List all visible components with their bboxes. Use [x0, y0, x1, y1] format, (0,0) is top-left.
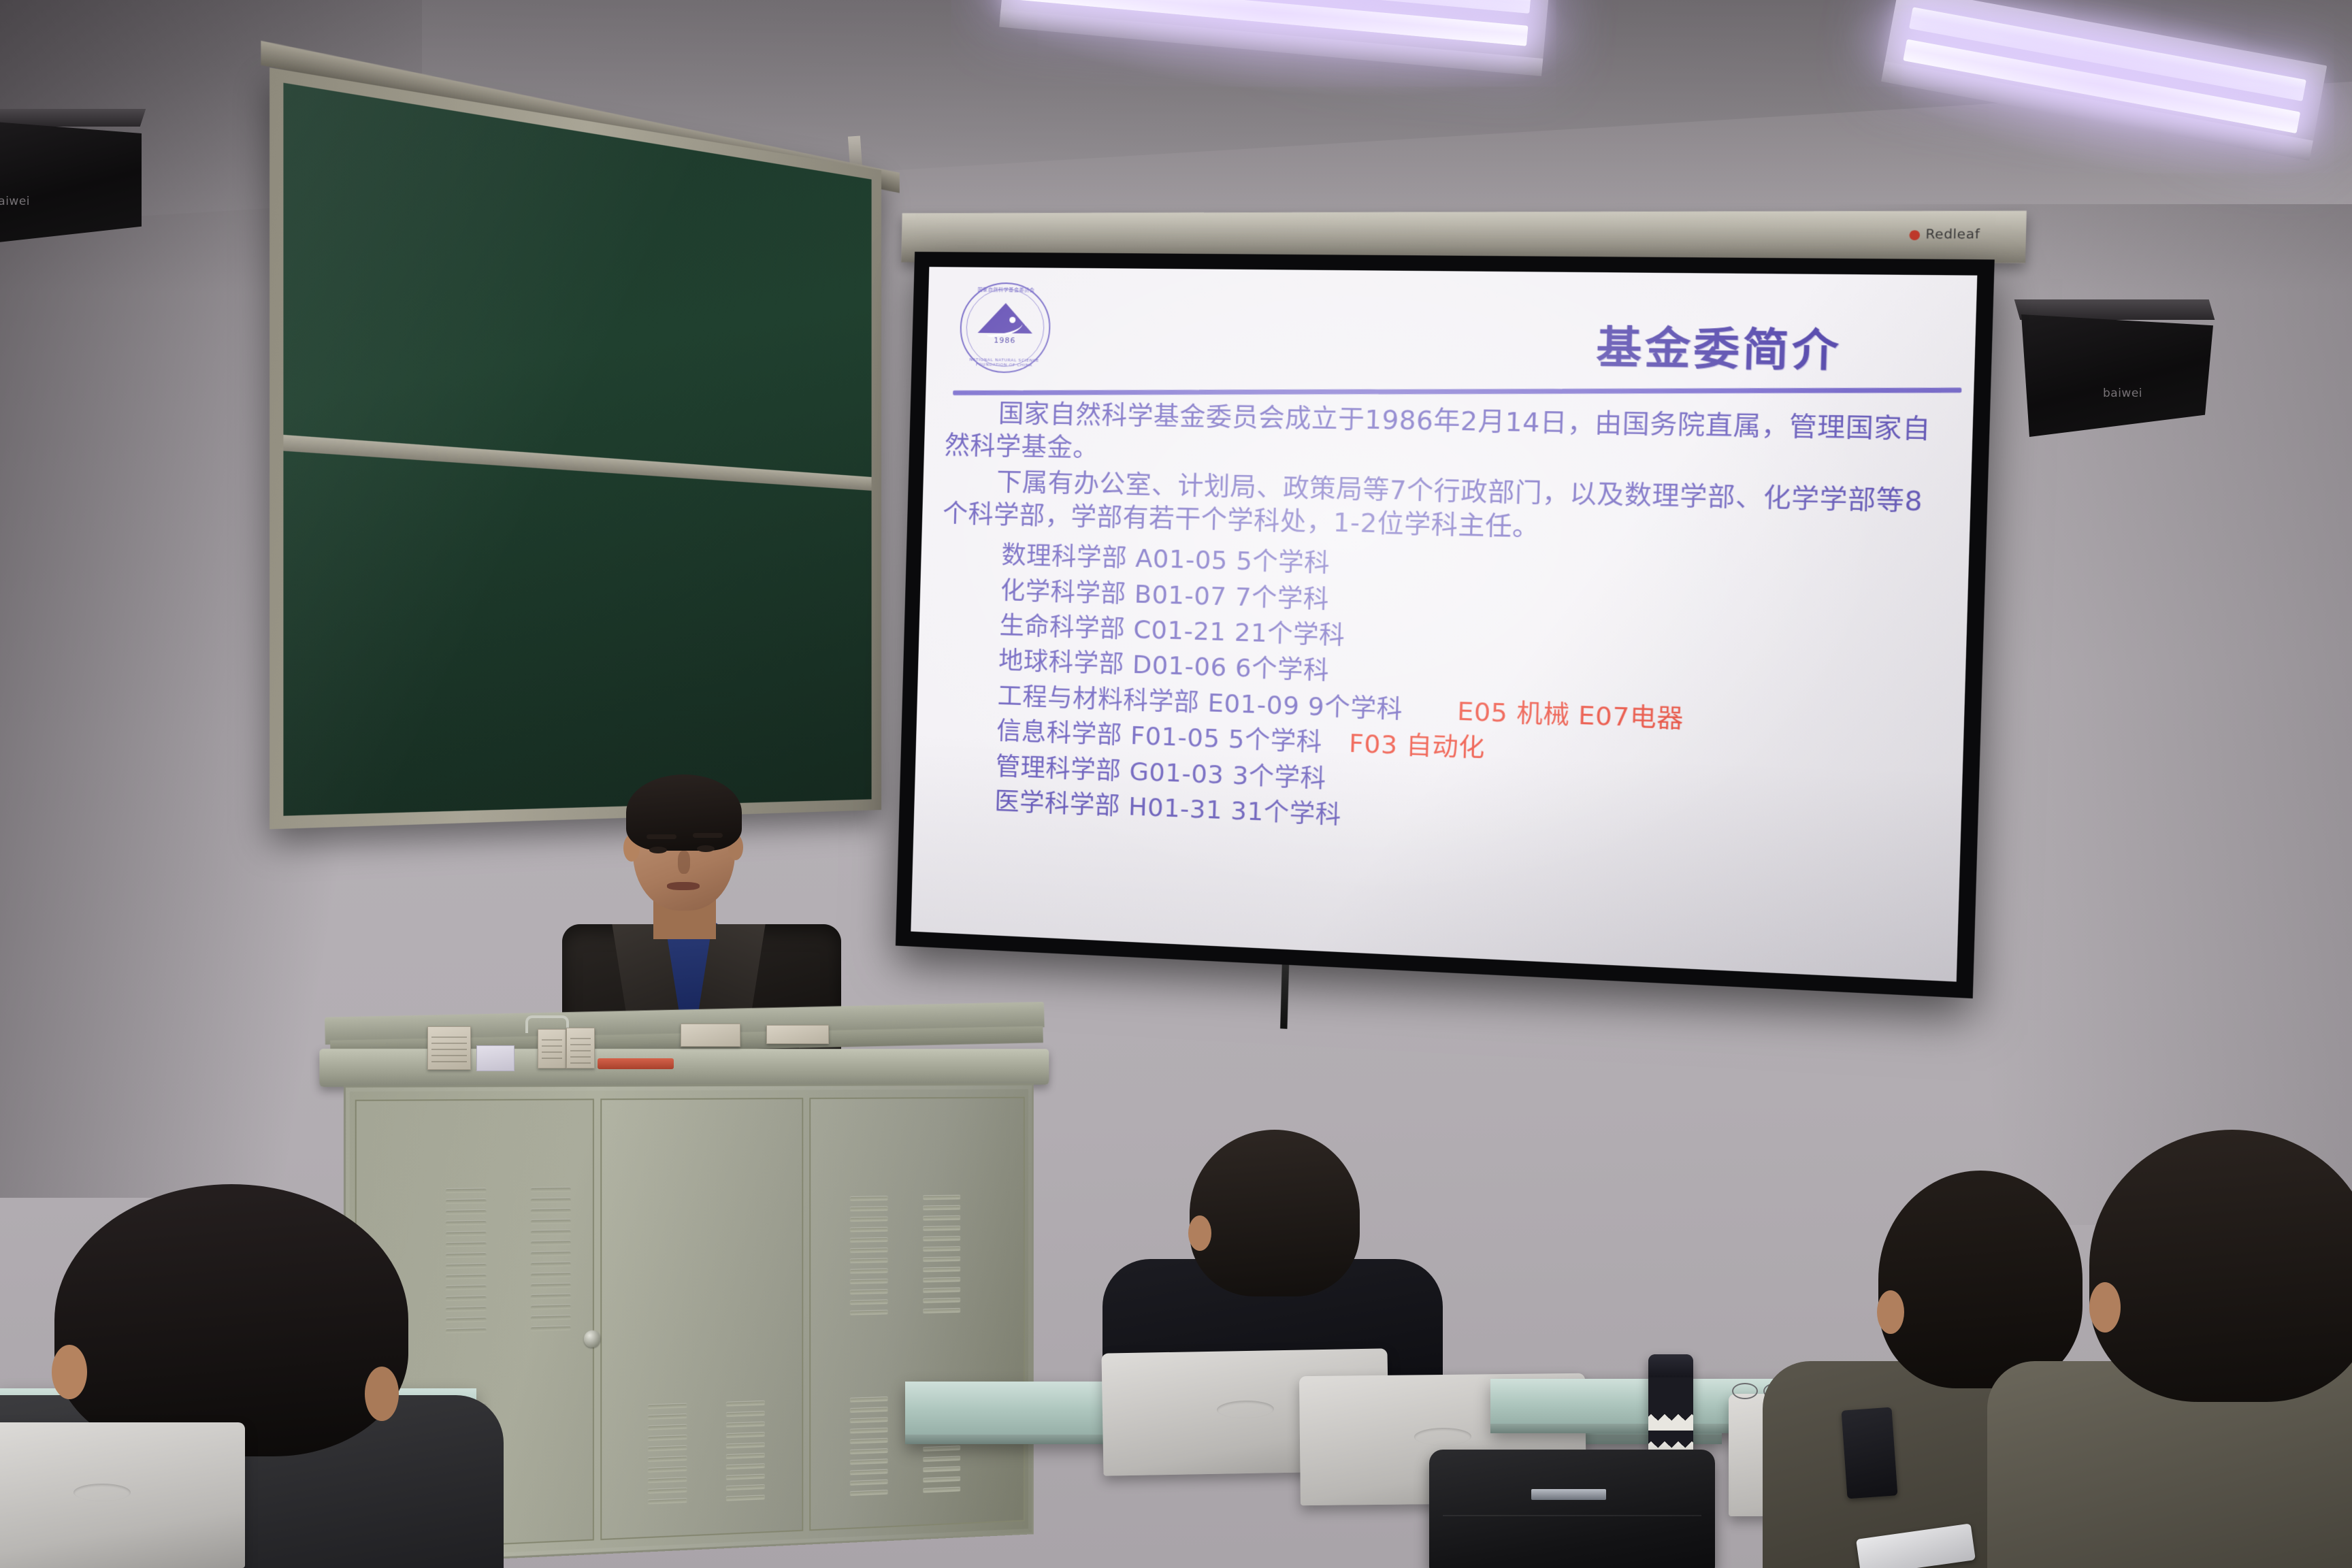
screen-brand-label: ● Redleaf: [1908, 227, 1980, 242]
podium-vent-slots: [923, 1195, 960, 1320]
podium-vent-slots: [531, 1187, 571, 1337]
blackboard-frame: [269, 67, 881, 829]
nsfc-logo-icon: 国家自然科学基金委员会 1986 NATIONAL NATURAL SCIENC…: [959, 282, 1051, 374]
department-code: D01-06: [1132, 651, 1227, 683]
department-annotation: F03 自动化: [1349, 730, 1486, 763]
podium-vent-slots: [850, 1396, 888, 1502]
red-chalk-stick[interactable]: [598, 1058, 674, 1069]
classroom-scene: baiwei baiwei ● Redleaf: [0, 0, 2352, 1568]
department-code: C01-21: [1133, 616, 1226, 647]
podium-vent-slots: [648, 1403, 687, 1511]
department-name: 医学科学部: [994, 787, 1121, 821]
projection-screen: ● Redleaf 国家自然科学基金委员会 1986 NATIONAL NATU…: [896, 252, 1995, 998]
department-count: 3个学科: [1232, 762, 1326, 794]
chalk-box[interactable]: [538, 1029, 566, 1068]
department-code: F01-05: [1130, 722, 1220, 753]
presenter-mouth: [667, 882, 700, 890]
department-name: 管理科学部: [995, 753, 1122, 785]
slide-title-rule: [953, 388, 1961, 395]
department-count: 21个学科: [1234, 619, 1345, 651]
department-name: 地球科学部: [998, 647, 1125, 679]
chalk-tray-item[interactable]: [766, 1025, 829, 1044]
slide-header: 国家自然科学基金委员会 1986 NATIONAL NATURAL SCIENC…: [946, 278, 1957, 408]
slide-title: 基金委简介: [1595, 312, 1842, 379]
department-name: 工程与材料科学部: [997, 682, 1200, 717]
screen-projection-surface: 国家自然科学基金委员会 1986 NATIONAL NATURAL SCIENC…: [911, 267, 1977, 981]
department-count: 6个学科: [1235, 654, 1329, 685]
presenter-brow-right: [693, 833, 723, 838]
department-count: 9个学科: [1307, 692, 1403, 724]
chalk-eraser[interactable]: [476, 1045, 514, 1071]
podium-door-center[interactable]: [600, 1098, 803, 1540]
mobile-phone-held[interactable]: [1842, 1407, 1898, 1499]
department-name: 信息科学部: [996, 717, 1123, 750]
presenter-eye-right: [697, 845, 715, 852]
wall-speaker-left: baiwei: [0, 109, 143, 252]
presenter-brow-left: [647, 834, 676, 839]
audience-front-left-hair: [54, 1184, 408, 1456]
department-name: 数理科学部: [1001, 542, 1128, 573]
wall-speaker-right: baiwei: [2001, 299, 2219, 449]
podium-vent-slots: [850, 1196, 888, 1321]
blackboard: [269, 67, 881, 829]
podium-vent-slots: [726, 1401, 765, 1507]
audience-front-left-ear-right: [365, 1367, 399, 1421]
department-code: E01-09: [1207, 689, 1300, 721]
chalk-box[interactable]: [427, 1026, 471, 1070]
podium-door-right[interactable]: [809, 1097, 1024, 1531]
bag-seam: [1443, 1515, 1701, 1516]
logo-year-text: 1986: [960, 336, 1050, 346]
audience-center-hair: [1190, 1130, 1360, 1296]
department-code: H01-31: [1128, 793, 1223, 825]
department-annotation: E05 机械 E07电器: [1457, 698, 1684, 734]
logo-arc-bottom-text: NATIONAL NATURAL SCIENCE FOUNDATION OF C…: [959, 357, 1049, 368]
bag-brand-tag: [1531, 1489, 1606, 1500]
slide-content: 国家自然科学基金委员会 1986 NATIONAL NATURAL SCIENC…: [911, 267, 1977, 981]
department-count: 5个学科: [1236, 547, 1330, 578]
logo-arc-top-text: 国家自然科学基金委员会: [961, 287, 1051, 294]
department-list: 数理科学部 A01-05 5个学科 化学科学部 B01-07 7个学科 生命科学…: [934, 539, 1949, 856]
speaker-brand-label-right: baiwei: [2103, 387, 2142, 400]
chalk-box[interactable]: [566, 1028, 595, 1068]
chair-back-left[interactable]: [0, 1422, 245, 1568]
department-count: 31个学科: [1230, 797, 1341, 830]
department-count: 5个学科: [1228, 725, 1322, 757]
presenter-eye-left: [649, 847, 667, 853]
slide-body: 国家自然科学基金委员会成立于1986年2月14日，由国务院直属，管理国家自然科学…: [934, 397, 1953, 856]
speaker-brand-label: baiwei: [0, 195, 30, 208]
chalk-box-flat[interactable]: [681, 1024, 740, 1047]
department-name: 化学科学部: [1000, 576, 1127, 608]
audience-right-back-ear: [2089, 1282, 2121, 1333]
department-code: G01-03: [1129, 757, 1224, 789]
department-code: B01-07: [1134, 581, 1227, 611]
department-count: 7个学科: [1235, 583, 1329, 615]
audience-right-back: [2014, 1109, 2352, 1568]
department-name: 生命科学部: [999, 612, 1126, 644]
presenter-hair: [626, 774, 742, 851]
audience-center-ear: [1188, 1215, 1211, 1251]
presenter-nose: [678, 851, 690, 874]
laptop-bag[interactable]: [1429, 1450, 1715, 1568]
podium-lock-icon[interactable]: [584, 1330, 601, 1347]
department-code: A01-05: [1135, 545, 1228, 576]
audience-right-back-hair: [2089, 1130, 2352, 1402]
audience-right-front-ear: [1877, 1290, 1904, 1334]
audience-front-left-ear-left: [52, 1345, 87, 1399]
